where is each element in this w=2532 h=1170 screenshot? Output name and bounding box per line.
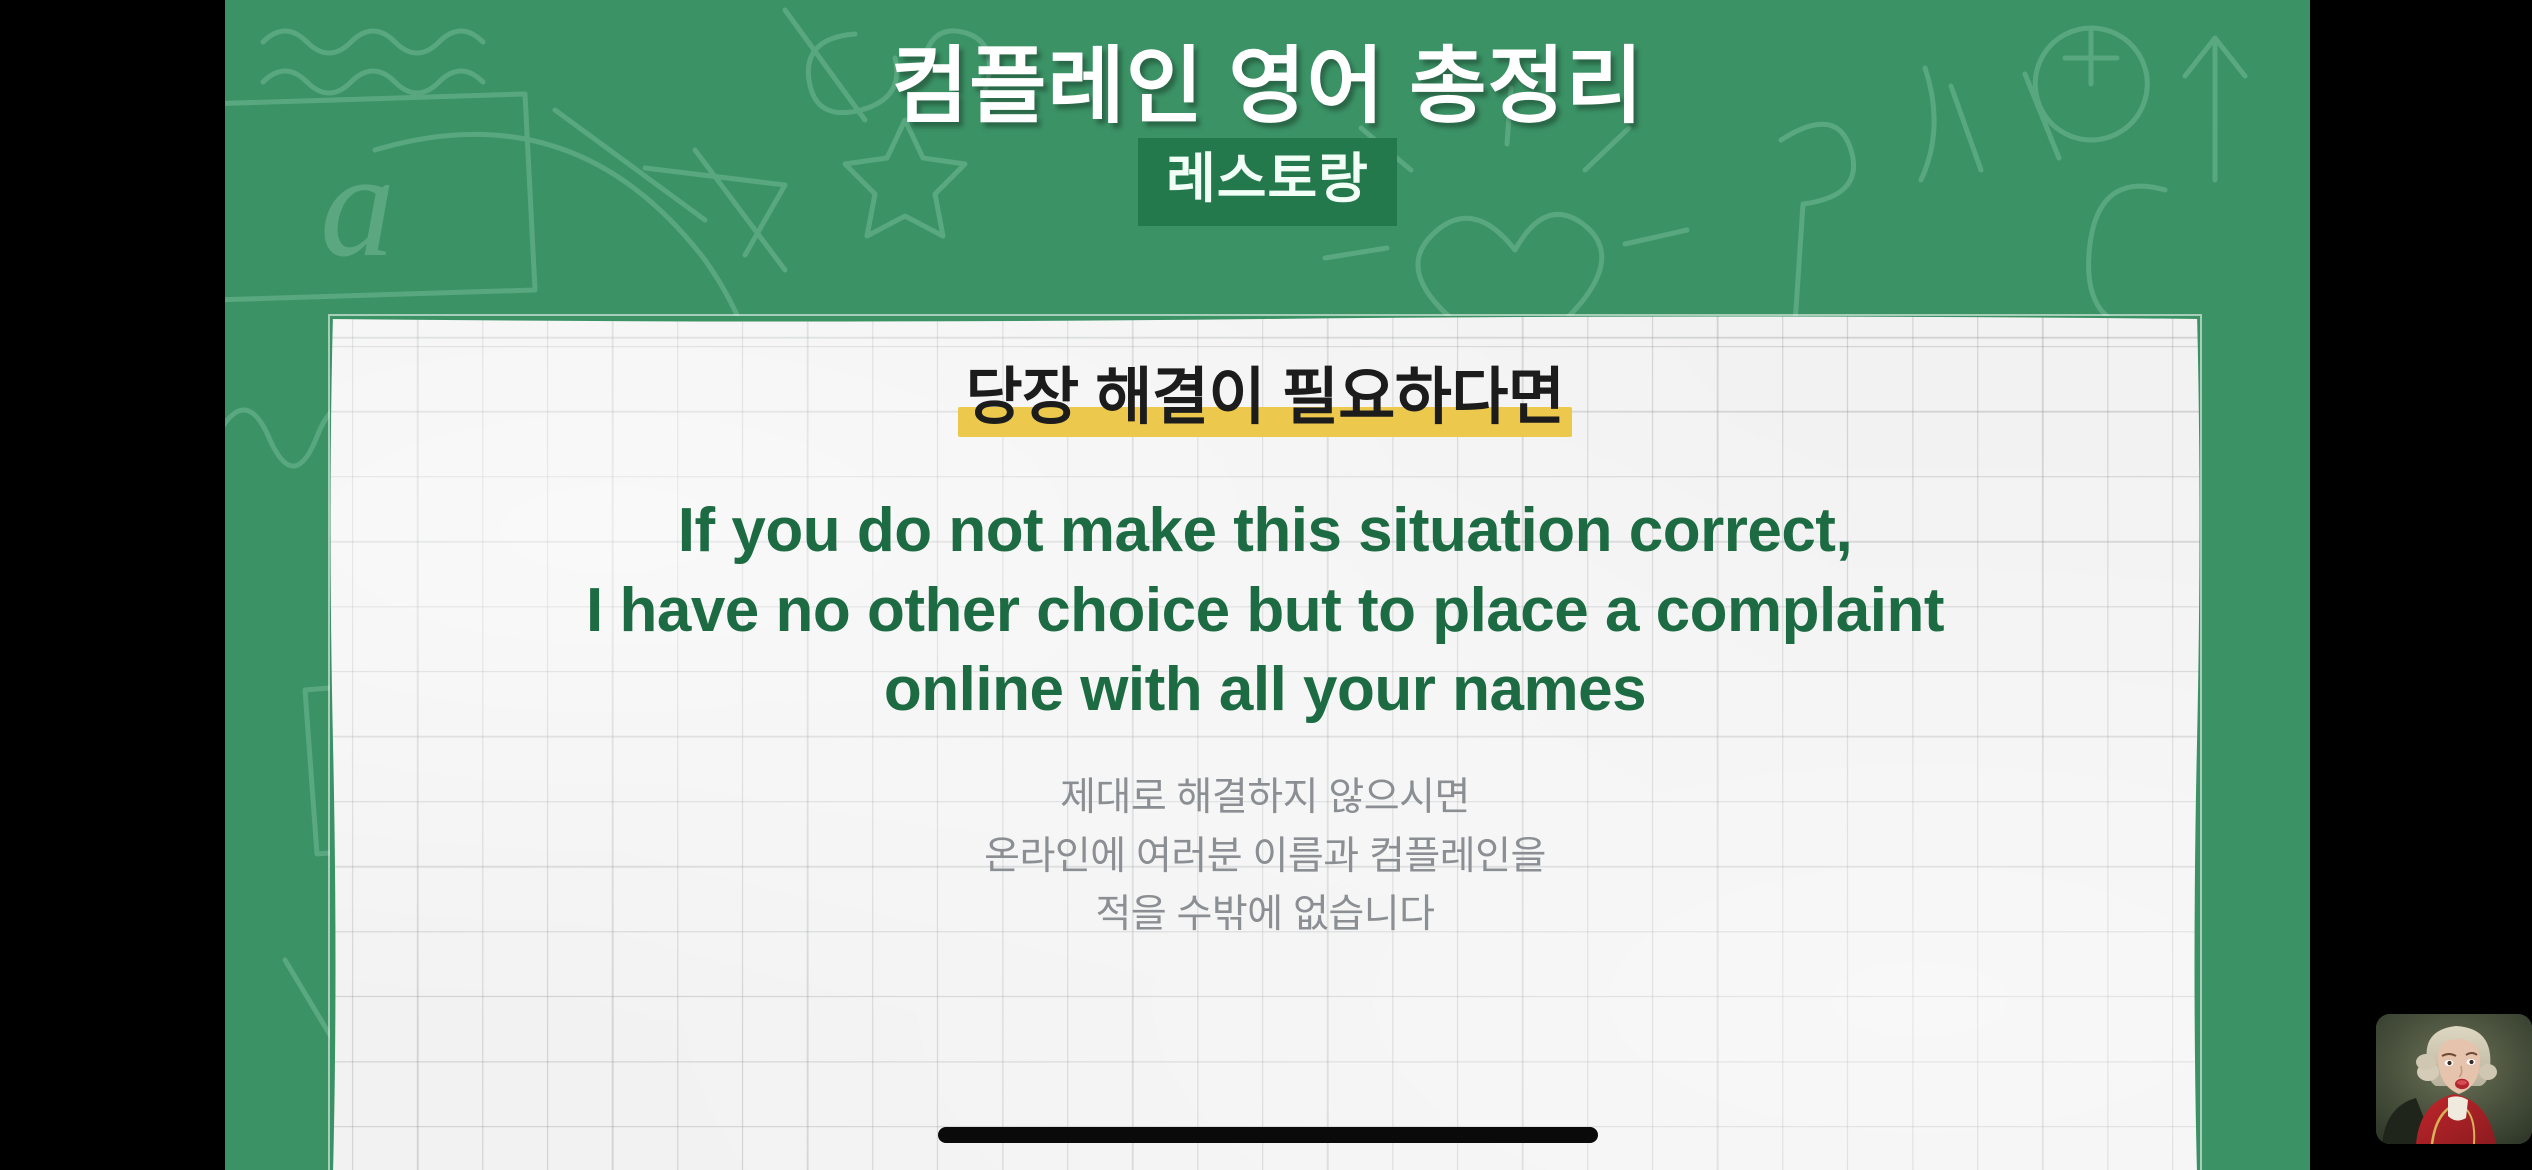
slide-header: 컴플레인 영어 총정리 레스토랑 bbox=[225, 0, 2310, 226]
korean-line-2: 온라인에 여러분 이름과 컴플레인을 bbox=[330, 828, 2200, 887]
slide-canvas: a 컴플레인 영어 총정리 레스토랑 bbox=[225, 0, 2310, 1170]
korean-line-3: 적을 수밖에 없습니다 bbox=[330, 886, 2200, 945]
category-badge: 레스토랑 bbox=[1138, 138, 1397, 226]
english-line-2: I have no other choice but to place a co… bbox=[330, 571, 2200, 650]
video-player-stage: a 컴플레인 영어 총정리 레스토랑 bbox=[0, 0, 2532, 1170]
presenter-portrait-icon bbox=[2376, 1014, 2532, 1144]
korean-heading-text: 당장 해결이 필요하다면 bbox=[966, 363, 1565, 432]
kr-heading-wrap: 당장 해결이 필요하다면 bbox=[330, 362, 2200, 439]
card-content: 당장 해결이 필요하다면 If you do not make this sit… bbox=[330, 316, 2200, 945]
subtitle-badge-wrap: 레스토랑 bbox=[225, 138, 2310, 226]
letterbox-right bbox=[2310, 0, 2532, 1170]
korean-translation-block: 제대로 해결하지 않으시면 온라인에 여러분 이름과 컴플레인을 적을 수밖에 … bbox=[330, 769, 2200, 945]
english-phrase-block: If you do not make this situation correc… bbox=[330, 491, 2200, 729]
page-title: 컴플레인 영어 총정리 bbox=[225, 42, 2310, 130]
letterbox-left bbox=[0, 0, 225, 1170]
korean-heading: 당장 해결이 필요하다면 bbox=[958, 362, 1573, 439]
home-indicator[interactable] bbox=[938, 1127, 1598, 1143]
english-line-3: online with all your names bbox=[330, 650, 2200, 729]
english-line-1: If you do not make this situation correc… bbox=[330, 491, 2200, 570]
content-card: 당장 해결이 필요하다면 If you do not make this sit… bbox=[330, 316, 2200, 1170]
presenter-webcam-overlay[interactable] bbox=[2376, 1014, 2532, 1144]
korean-line-1: 제대로 해결하지 않으시면 bbox=[330, 769, 2200, 828]
